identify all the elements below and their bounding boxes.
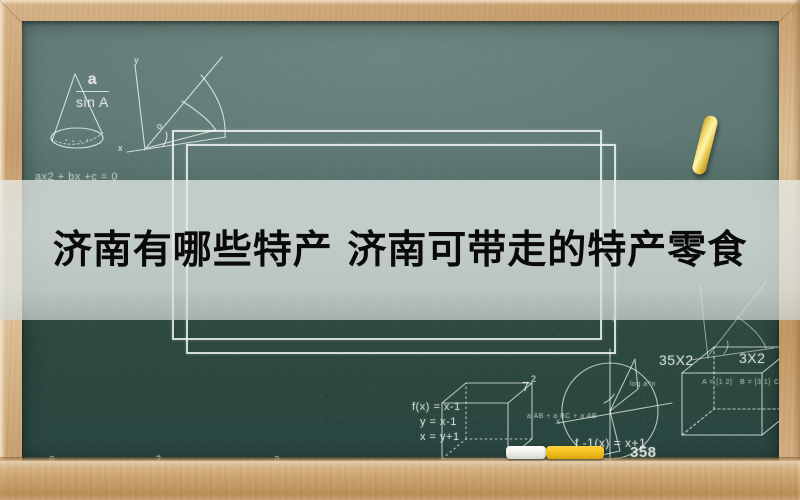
chalk-label-axis-y-topleft: y (134, 55, 139, 65)
chalk-label-angle-topleft: o (157, 121, 163, 131)
chalk-sine-denominator: sin A (76, 94, 109, 110)
chalk-formula-sine-rule-topleft: a sin A (76, 71, 109, 110)
chalk-yellow-icon (546, 446, 604, 459)
chalkboard-cover: y x o a sin A ax2 + bx +c = 0 f(x (0, 0, 800, 500)
title-overlay-band: 济南有哪些特产 济南可带走的特产零食 (0, 180, 800, 320)
chalk-ledge (0, 461, 800, 500)
chalk-label-axis-x-bottomright: x (556, 417, 561, 426)
page-title: 济南有哪些特产 济南可带走的特产零食 (53, 231, 748, 270)
chalk-white-icon (506, 446, 546, 459)
chalk-log-an: log a^n (630, 381, 656, 388)
chalk-label-axis-x-topleft: x (118, 143, 123, 153)
chalk-formula-fx-1: f(x) = x-1 (412, 401, 461, 413)
chalk-formula-fx-2: y = x-1 (420, 416, 457, 428)
chalk-sine-numerator: a (76, 71, 109, 89)
chalk-formula-fx-3: x = y+1 (420, 431, 460, 443)
chalk-fraction-bar (76, 91, 109, 92)
